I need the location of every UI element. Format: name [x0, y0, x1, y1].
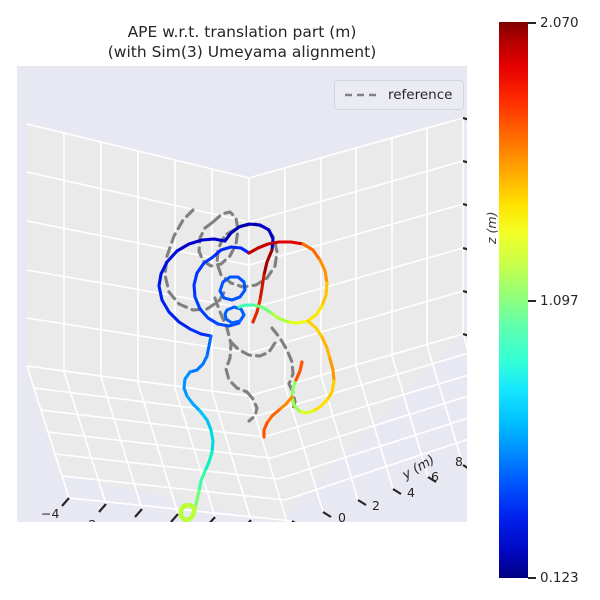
y-tick-label-3: 4: [407, 485, 415, 500]
colorbar-tick-max: [528, 22, 536, 24]
colorbar-gradient: [499, 22, 528, 578]
axes-3d-svg: [17, 66, 467, 522]
legend[interactable]: reference: [334, 80, 464, 110]
colorbar-label-mid: 1.097: [540, 293, 579, 309]
y-tick-label-5: 8: [455, 454, 463, 469]
y-tick-label-0: −2: [303, 521, 321, 522]
y-tick-label-4: 6: [431, 469, 439, 484]
colorbar-label-max: 2.070: [540, 15, 579, 31]
legend-dashed-line-icon: [344, 90, 378, 100]
x-tick-label-0: −4: [41, 506, 59, 521]
colorbar-tick-min: [528, 577, 536, 579]
x-tick-label-1: −2: [78, 517, 96, 522]
plot-title-line-2: (with Sim(3) Umeyama alignment): [108, 43, 377, 61]
z-axis-label: z (m): [484, 212, 499, 244]
plot-title: APE w.r.t. translation part (m) (with Si…: [17, 22, 467, 62]
legend-label-reference: reference: [388, 87, 452, 103]
plot-title-line-1: APE w.r.t. translation part (m): [128, 23, 357, 41]
colorbar-label-min: 0.123: [540, 570, 579, 586]
axes-3d[interactable]: −4 −2 0 2 4 6 x (m) −2 0 2 4 6 8 y (m) 6…: [17, 66, 467, 522]
colorbar-tick-mid: [528, 300, 536, 302]
figure-canvas: APE w.r.t. translation part (m) (with Si…: [0, 0, 600, 600]
y-tick-label-1: 0: [338, 510, 346, 522]
colorbar[interactable]: 2.070 1.097 0.123: [499, 22, 528, 578]
y-tick-label-2: 2: [372, 498, 380, 513]
